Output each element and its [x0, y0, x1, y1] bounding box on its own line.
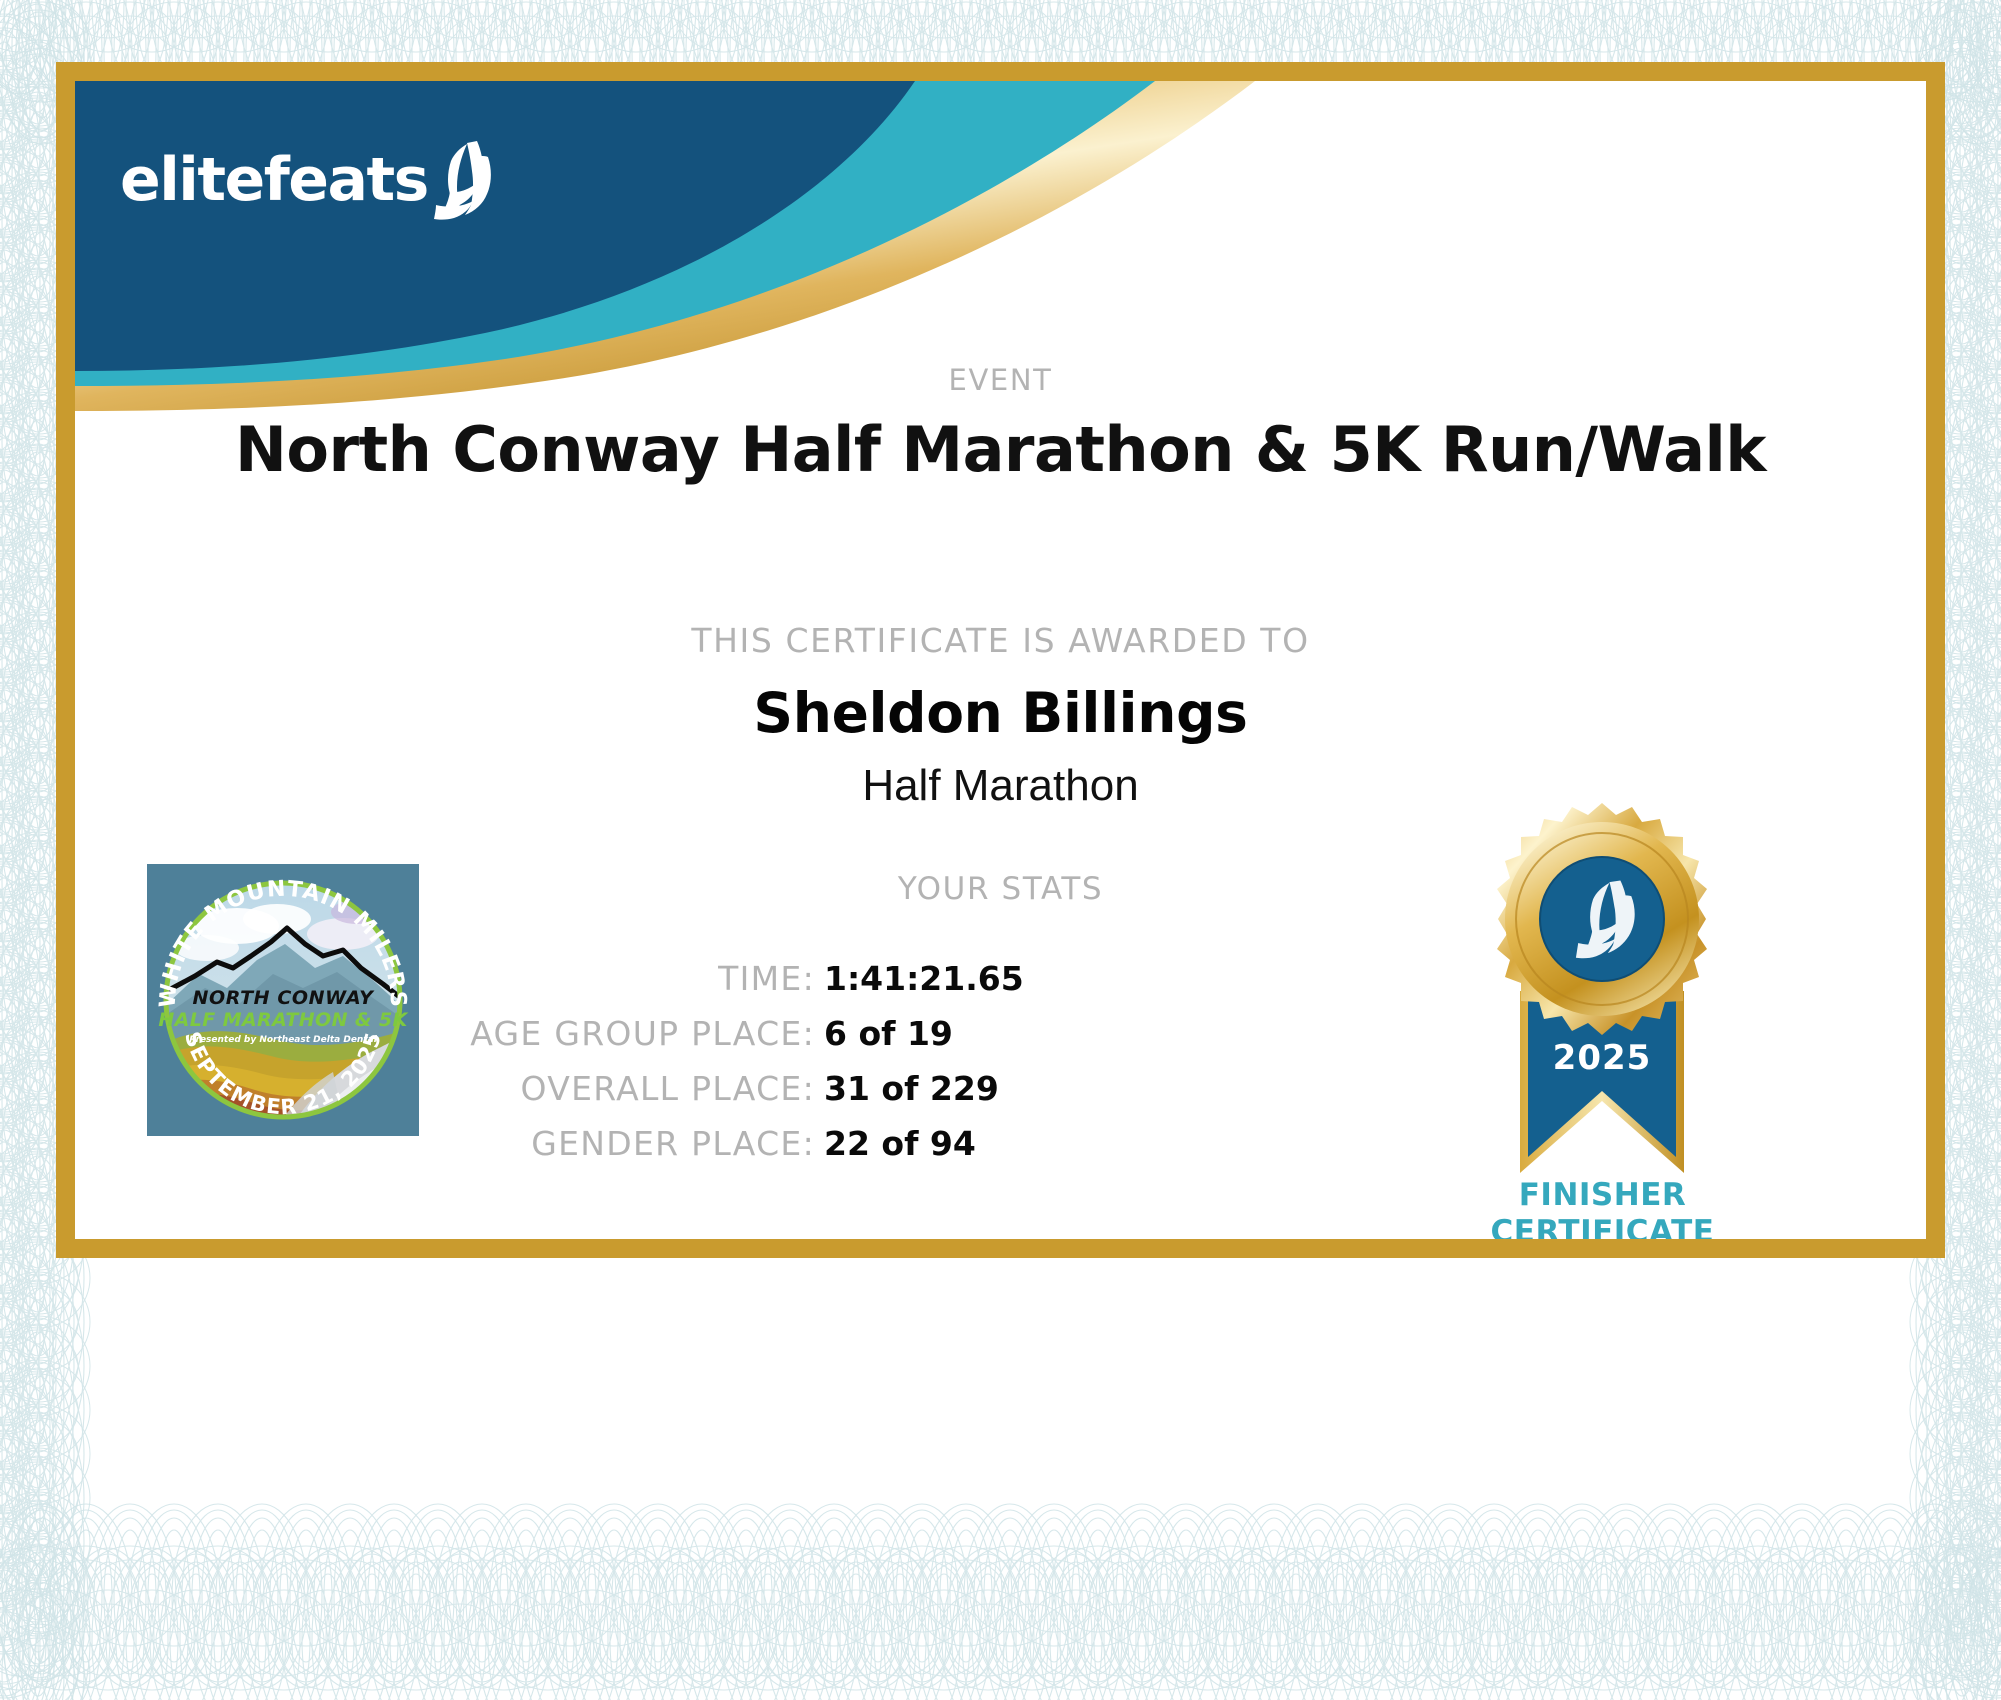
stat-value-overall-place: 31 of 229 [824, 1061, 1328, 1116]
event-label: EVENT [75, 363, 1926, 397]
race-logo-title-line2: HALF MARATHON & 5K [158, 1009, 408, 1031]
recipient-name: Sheldon Billings [75, 681, 1926, 745]
medal-year: 2025 [1553, 1038, 1652, 1078]
stat-value-gender-place: 22 of 94 [824, 1116, 1328, 1171]
awarded-to-label: THIS CERTIFICATE IS AWARDED TO [75, 621, 1926, 660]
race-logo-presented-by: Presented by Northeast Delta Dental [189, 1035, 378, 1045]
finisher-caption-line2: CERTIFICATE [1415, 1214, 1790, 1239]
finisher-certificate-caption: FINISHER CERTIFICATE [1415, 1177, 1790, 1239]
gold-certificate-frame: elitefeats EVENT North Conway Half Marat… [56, 62, 1945, 1258]
finisher-caption-line1: FINISHER [1415, 1177, 1790, 1214]
stat-value-age-group-place: 6 of 19 [824, 1006, 1328, 1061]
stat-value-time: 1:41:21.65 [824, 951, 1328, 1006]
race-logo-title-line1: NORTH CONWAY [192, 987, 375, 1009]
finisher-medal-badge: 2025 [1468, 801, 1736, 1191]
certificate-content: EVENT North Conway Half Marathon & 5K Ru… [75, 81, 1926, 1239]
race-event-logo: WHITE MOUNTAIN MILERS SEPTEMBER 21, 2025… [147, 864, 419, 1136]
event-title: North Conway Half Marathon & 5K Run/Walk [75, 413, 1926, 486]
certificate-page: elitefeats EVENT North Conway Half Marat… [0, 0, 2001, 1700]
